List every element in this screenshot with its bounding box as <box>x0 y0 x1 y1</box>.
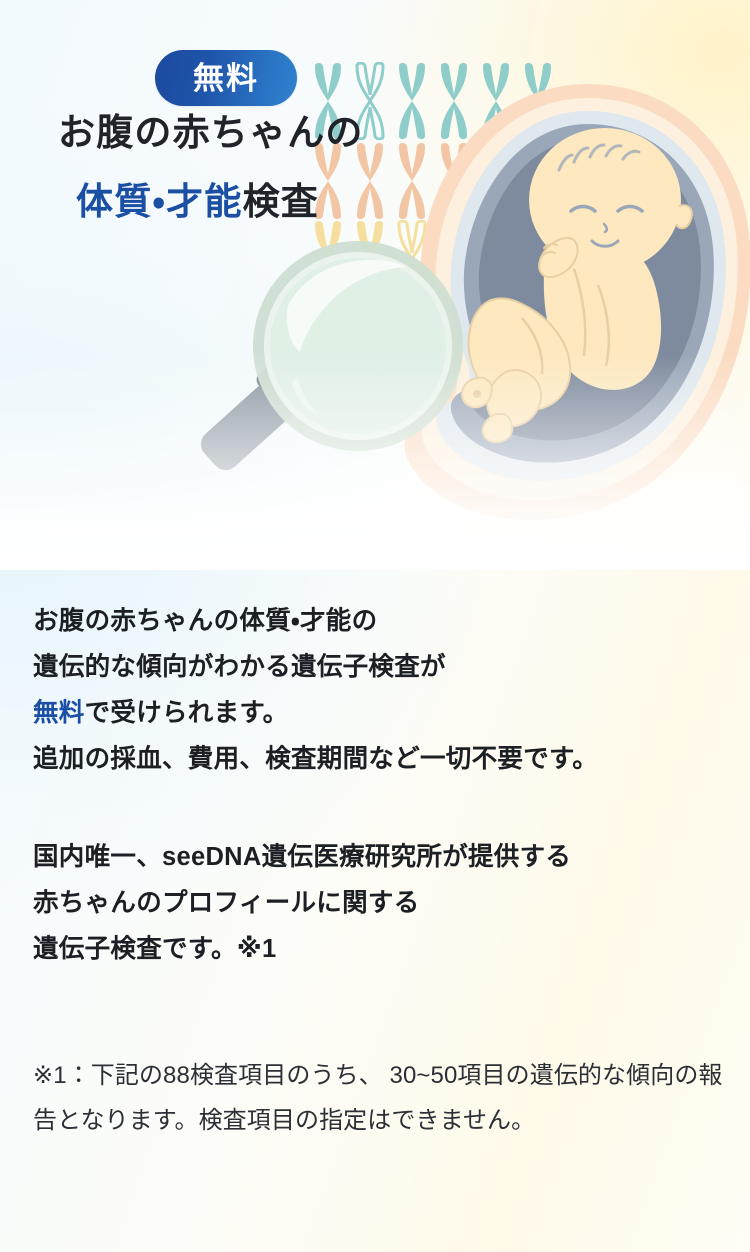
free-accent-text: 無料 <box>33 699 85 727</box>
paragraph-1-line-2: 遺伝的な傾向がわかる遺伝子検査が <box>33 644 723 690</box>
page-title-line-2-dark: 検査 <box>243 181 319 222</box>
paragraph-1-line-3-rest: で受けられます。 <box>85 699 289 727</box>
paragraph-1-line-4: 追加の採血、費用、検査期間など一切不要です。 <box>33 736 723 782</box>
paragraph-2-line-1: 国内唯一、seeDNA遺伝医療研究所が提供する <box>33 834 723 880</box>
paragraph-2-line-2: 赤ちゃんのプロフィールに関する <box>33 880 723 926</box>
footnote-text: ※1：下記の88検査項目のうち、 30~50項目の遺伝的な傾向の報告となります。… <box>33 1053 733 1143</box>
free-badge-label: 無料 <box>193 63 259 94</box>
paragraph-2-line-3: 遺伝子検査です。※1 <box>33 926 723 972</box>
paragraph-2: 国内唯一、seeDNA遺伝医療研究所が提供する 赤ちゃんのプロフィールに関する … <box>33 834 723 972</box>
paragraph-1: お腹の赤ちゃんの体質・才能の 遺伝的な傾向がわかる遺伝子検査が 無料で受けられま… <box>33 598 723 782</box>
landing-page: 無料 お腹の赤ちゃんの 体質・才能検査 お腹の赤ちゃんの体質・才能の 遺伝的な傾… <box>0 0 750 1252</box>
page-title-line-1: お腹の赤ちゃんの <box>0 114 560 151</box>
magnifying-glass-icon <box>176 228 486 518</box>
page-title: お腹の赤ちゃんの 体質・才能検査 <box>0 114 560 220</box>
paragraph-1-line-1: お腹の赤ちゃんの体質・才能の <box>33 598 723 644</box>
free-badge: 無料 <box>155 50 297 106</box>
body-copy: お腹の赤ちゃんの体質・才能の 遺伝的な傾向がわかる遺伝子検査が 無料で受けられま… <box>33 598 723 972</box>
paragraph-1-line-3: 無料で受けられます。 <box>33 690 723 736</box>
page-title-line-2-blue: 体質・才能 <box>76 181 243 222</box>
hero-illustration-section: 無料 お腹の赤ちゃんの 体質・才能検査 <box>0 0 750 570</box>
page-title-line-2: 体質・才能検査 <box>0 183 560 220</box>
